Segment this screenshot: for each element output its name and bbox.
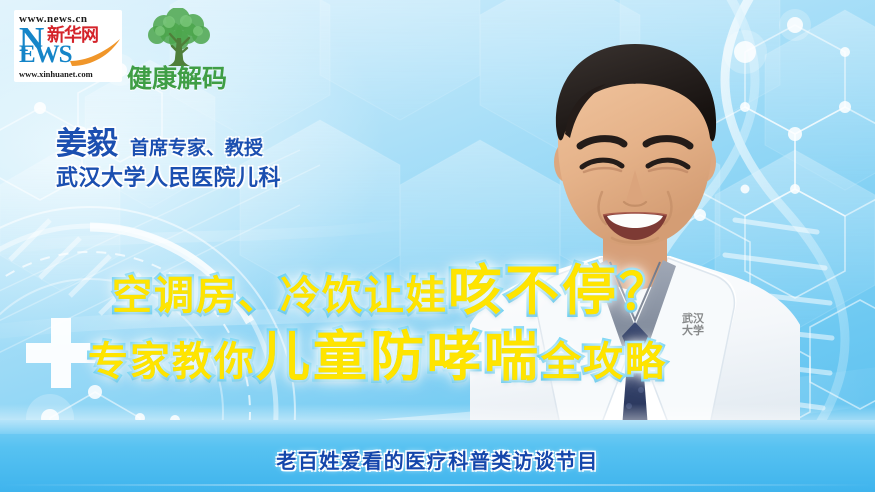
bottom-rule: [0, 484, 875, 486]
xinhua-letters-ews: EWS: [19, 43, 72, 67]
svg-text:武汉: 武汉: [682, 311, 705, 325]
health-decode-logo[interactable]: 健康解码: [118, 8, 236, 100]
bottom-band-glow: [0, 404, 875, 434]
swoosh-icon: [70, 37, 122, 67]
expert-title: 首席专家、教授: [130, 136, 263, 160]
xinhua-news-logo[interactable]: www.news.cn N EWS 新华网 www.xinhuanet.com: [14, 10, 122, 82]
expert-name: 姜毅: [56, 126, 118, 162]
expert-info: 姜毅 首席专家、教授 武汉大学人民医院儿科: [56, 126, 396, 193]
tree-icon: [142, 8, 216, 70]
xinhua-url-bottom: www.xinhuanet.com: [19, 69, 118, 79]
medical-cross-icon: [24, 316, 98, 390]
program-tagline: 老百姓爱看的医疗科普类访谈节目: [0, 445, 875, 474]
health-decode-title: 健康解码: [118, 64, 236, 94]
expert-name-row: 姜毅 首席专家、教授: [56, 126, 396, 162]
expert-affiliation: 武汉大学人民医院儿科: [56, 165, 396, 193]
doctor-portrait: 武汉 大学: [470, 34, 800, 454]
svg-text:大学: 大学: [682, 323, 704, 337]
xinhua-wordmark: N EWS 新华网: [19, 25, 118, 69]
poster-canvas: 武汉 大学 www.news.cn N EWS 新华网 www.xinhuane…: [0, 0, 875, 492]
